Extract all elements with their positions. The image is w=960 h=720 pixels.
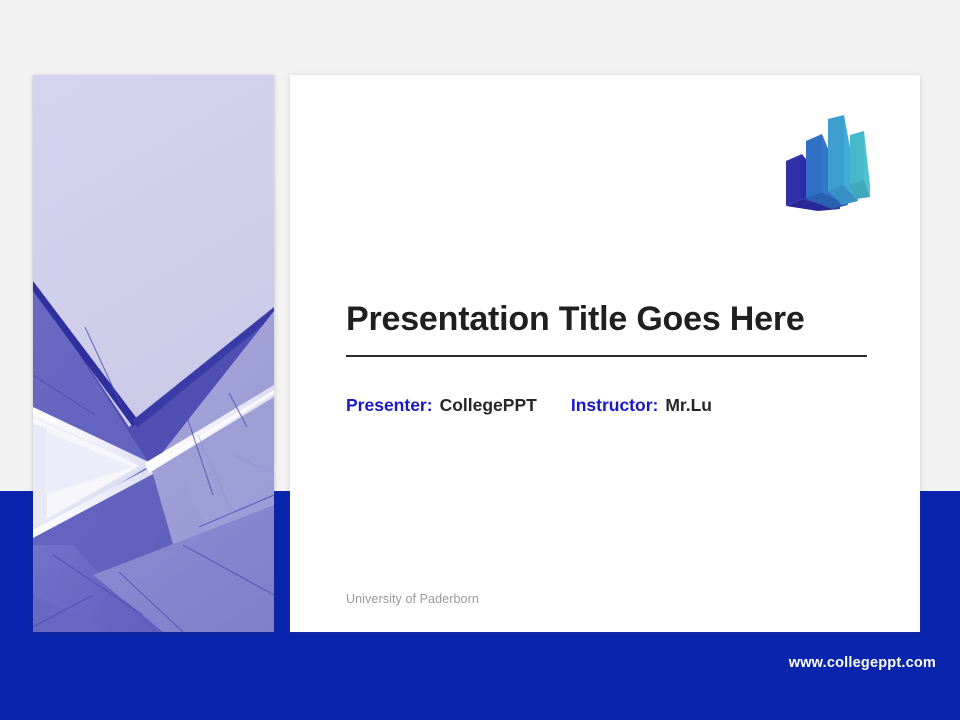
instructor-value: Mr.Lu: [665, 395, 712, 416]
page-title: Presentation Title Goes Here: [346, 300, 867, 339]
presentation-slide: www.collegeppt.com: [0, 0, 960, 720]
architecture-photo: [33, 75, 274, 632]
affiliation-text: University of Paderborn: [346, 592, 479, 606]
instructor-label: Instructor:: [571, 395, 659, 416]
title-block: Presentation Title Goes Here: [346, 300, 867, 357]
credit-instructor: Instructor: Mr.Lu: [571, 395, 712, 416]
presenter-label: Presenter:: [346, 395, 433, 416]
site-url-text: www.collegeppt.com: [789, 655, 936, 671]
slide-content-card: Presentation Title Goes Here Presenter: …: [290, 75, 920, 632]
title-divider: [346, 355, 867, 357]
book-building-logo-icon: [782, 113, 874, 211]
logo-glyph: [782, 113, 874, 211]
cover-photo-panel: [33, 75, 274, 632]
credit-presenter: Presenter: CollegePPT: [346, 395, 537, 416]
presenter-value: CollegePPT: [440, 395, 537, 416]
credits-row: Presenter: CollegePPT Instructor: Mr.Lu: [346, 395, 712, 416]
